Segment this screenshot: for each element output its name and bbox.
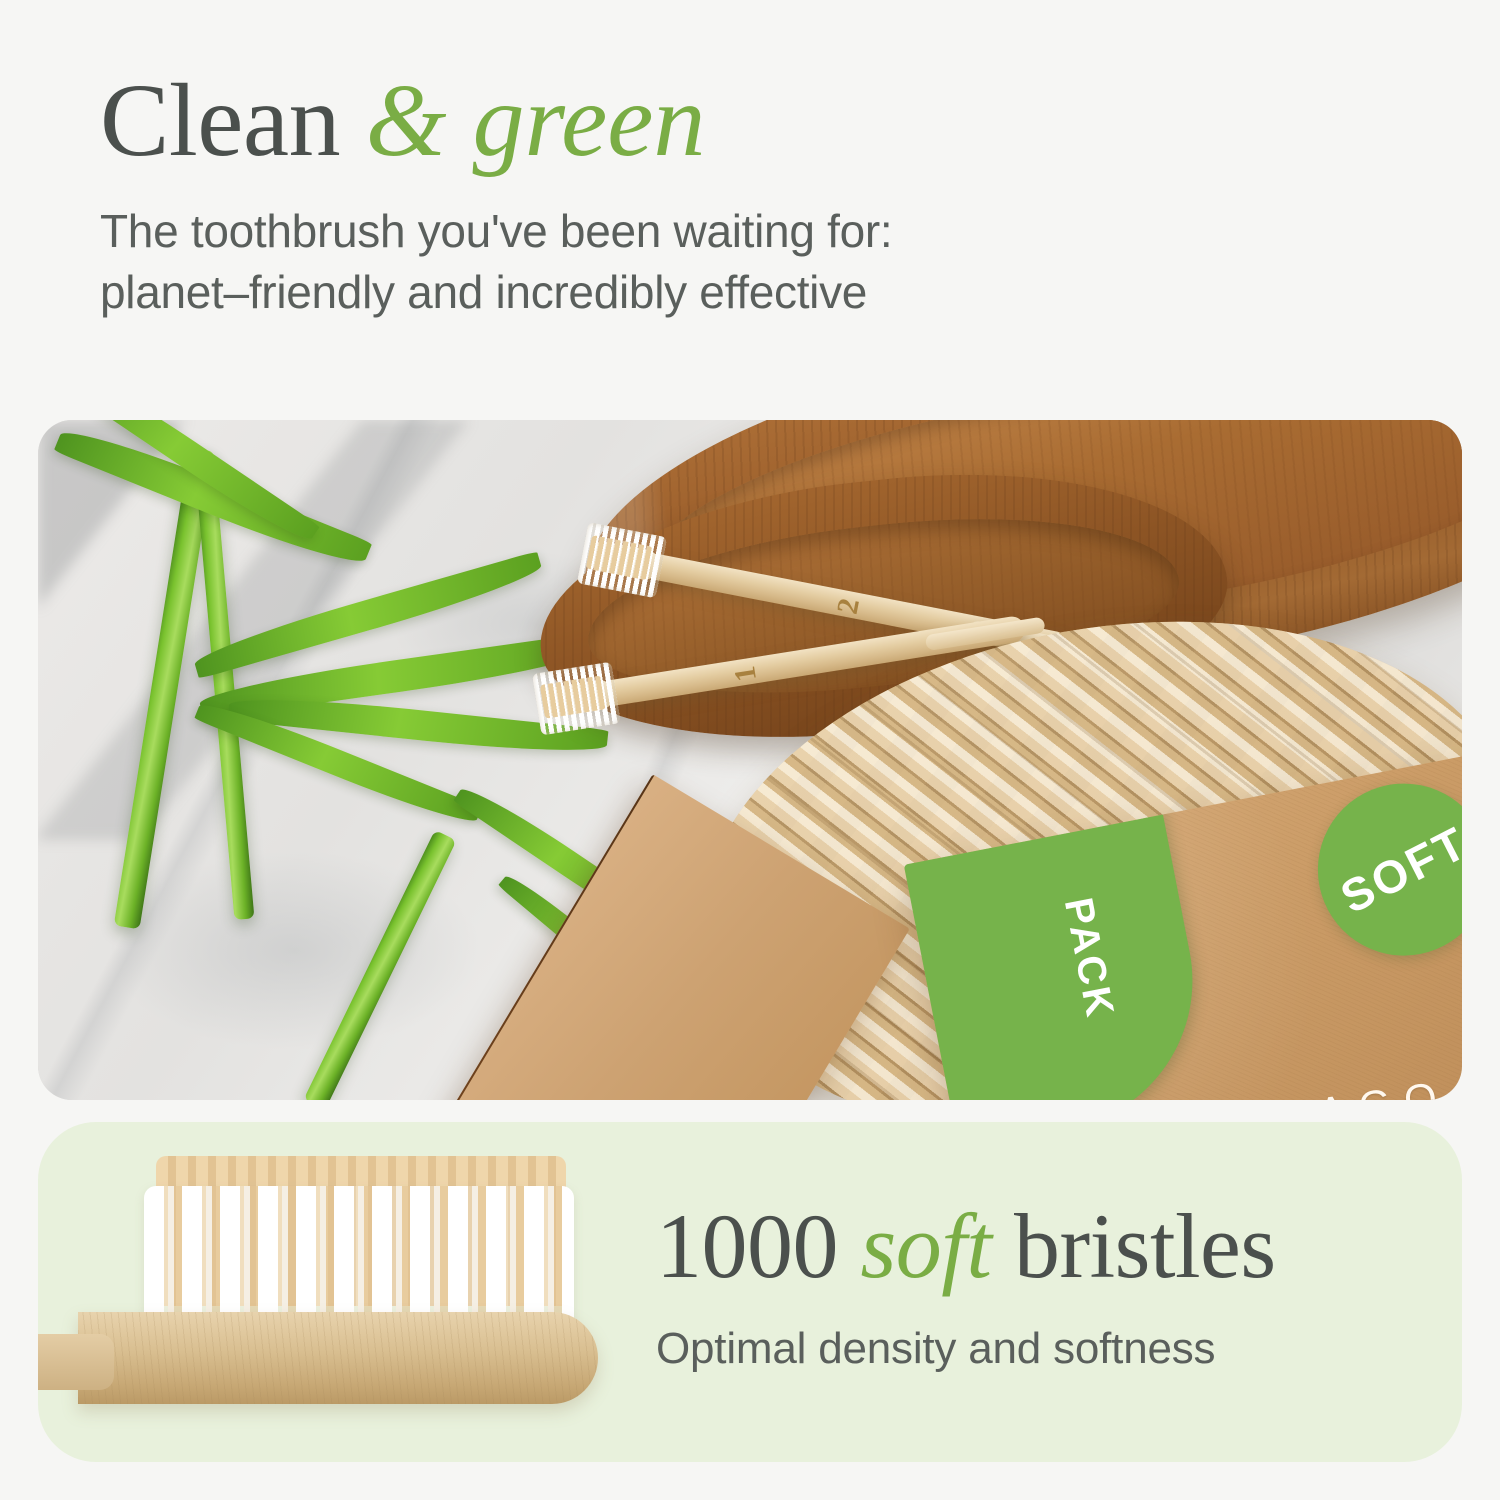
product-photo-panel: 2 1 VIVAGO 10 PACK 10 PACK SOFT xyxy=(38,420,1462,1100)
subtitle-line-2: planet–friendly and incredibly effective xyxy=(100,262,1420,323)
feature-headline-number: 1000 xyxy=(656,1195,861,1297)
bamboo-brush-neck xyxy=(38,1334,114,1390)
feature-text-block: 1000 soft bristles Optimal density and s… xyxy=(656,1200,1446,1374)
feature-panel: 1000 soft bristles Optimal density and s… xyxy=(38,1122,1462,1462)
page-title: Clean & green xyxy=(100,66,1420,175)
header-block: Clean & green The toothbrush you've been… xyxy=(100,66,1420,324)
feature-headline-accent: soft xyxy=(861,1195,992,1297)
toothbrush-head-closeup-art xyxy=(48,1152,648,1462)
subtitle-line-1: The toothbrush you've been waiting for: xyxy=(100,201,1420,262)
feature-subtext: Optimal density and softness xyxy=(656,1324,1446,1374)
feature-headline: 1000 soft bristles xyxy=(656,1200,1446,1292)
headline-plain-text: Clean xyxy=(100,63,366,178)
bamboo-brush-head xyxy=(78,1312,598,1404)
product-infographic: Clean & green The toothbrush you've been… xyxy=(0,0,1500,1500)
feature-headline-tail: bristles xyxy=(991,1195,1275,1297)
headline-accent-text: & green xyxy=(366,63,706,178)
soft-badge-text: SOFT xyxy=(1332,815,1462,924)
page-subtitle: The toothbrush you've been waiting for: … xyxy=(100,201,1420,323)
toothbrush-bristles xyxy=(532,662,621,736)
